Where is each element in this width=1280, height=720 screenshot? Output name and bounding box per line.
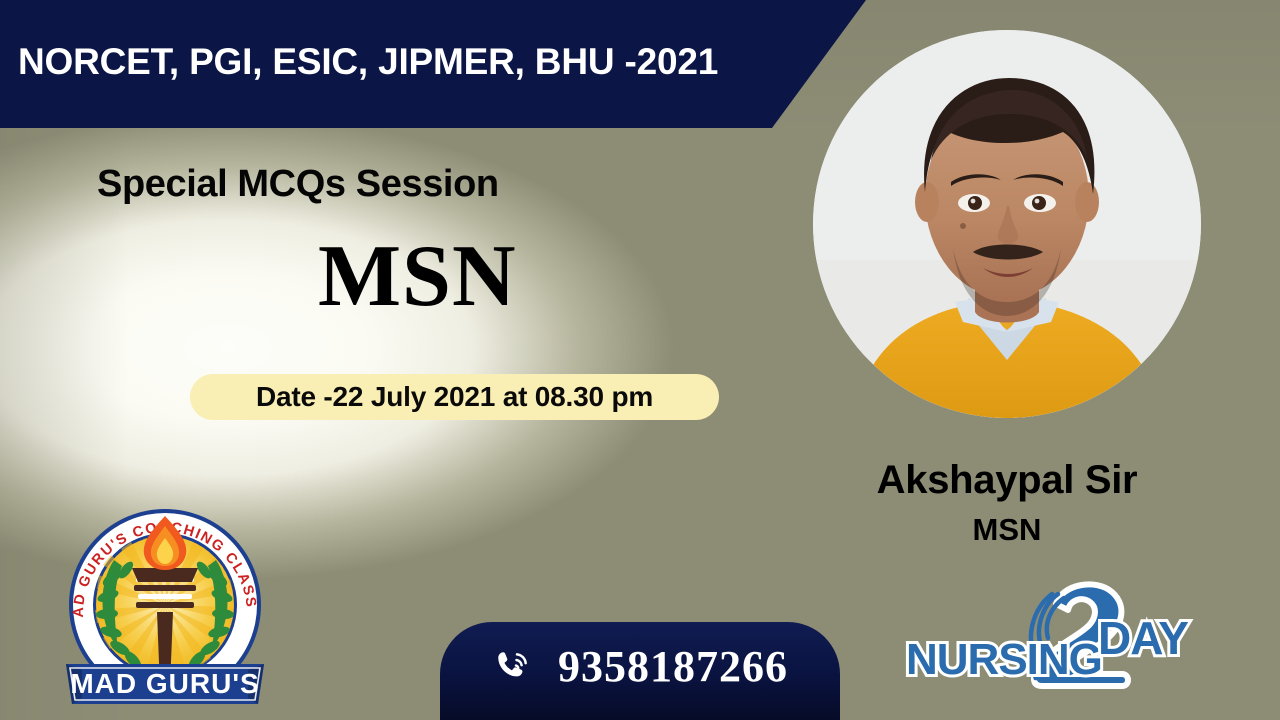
header-title: NORCET, PGI, ESIC, JIPMER, BHU -2021 <box>18 41 718 83</box>
contact-phone-badge[interactable]: 9358187266 <box>440 622 840 720</box>
poster-canvas: NORCET, PGI, ESIC, JIPMER, BHU -2021 Spe… <box>0 0 1280 720</box>
nursing2day-logo: NURSING DAY <box>898 578 1218 696</box>
presenter-subject: MSN <box>813 512 1201 548</box>
session-label: Special MCQs Session <box>97 163 499 206</box>
nursing2day-wordmark: NURSING DAY <box>898 578 1218 696</box>
date-text: Date -22 July 2021 at 08.30 pm <box>256 381 653 413</box>
date-badge: Date -22 July 2021 at 08.30 pm <box>190 374 719 420</box>
logo-ribbon-text: MAD GURU'S <box>70 668 259 699</box>
mad-gurus-logo: MAD GURU'S COACHING CLASSES <box>52 492 278 718</box>
presenter-photo <box>813 30 1201 418</box>
portrait-illustration <box>813 30 1201 418</box>
ribbon-banner: MAD GURU'S <box>66 664 264 704</box>
phone-call-icon <box>492 646 532 686</box>
subject-title: MSN <box>318 233 517 321</box>
nursing-word: NURSING <box>906 635 1102 684</box>
day-word: DAY <box>1098 612 1188 664</box>
phone-number: 9358187266 <box>558 641 788 692</box>
mad-gurus-emblem: MAD GURU'S COACHING CLASSES <box>52 492 278 718</box>
presenter-name: Akshaypal Sir <box>813 458 1201 503</box>
